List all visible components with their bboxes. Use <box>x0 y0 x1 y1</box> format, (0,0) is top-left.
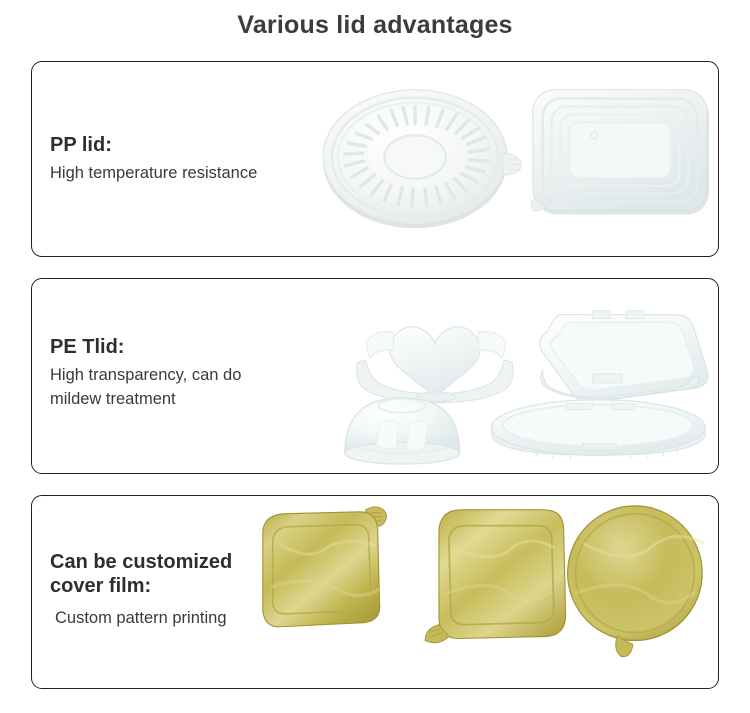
page-title: Various lid advantages <box>0 11 750 40</box>
card-pe-tlid-text: PE Tlid: High transparency, can do milde… <box>50 336 350 411</box>
card-pp-lid-subtext: High temperature resistance <box>50 162 350 186</box>
heart-shaped-lid-image <box>357 327 513 403</box>
card-pp-lid-heading: PP lid: <box>50 134 350 158</box>
card-cover-film-images <box>247 496 718 688</box>
square-lid-image <box>540 311 708 402</box>
round-ribbed-lid-image <box>323 90 522 229</box>
card-pe-tlid-images <box>332 279 718 473</box>
card-pp-lid: PP lid: High temperature resistance <box>31 61 719 257</box>
card-pp-lid-images <box>312 62 718 256</box>
card-pe-tlid-heading: PE Tlid: <box>50 336 350 360</box>
card-pe-tlid-subtext: High transparency, can do mildew treatme… <box>50 364 350 412</box>
rectangular-lid-image <box>531 90 709 215</box>
dome-lid-image <box>345 398 460 464</box>
card-pe-tlid: PE Tlid: High transparency, can do milde… <box>31 278 719 474</box>
infographic-page: Various lid advantages PP lid: High temp… <box>0 0 750 713</box>
card-cover-film: Can be customized cover film: Custom pat… <box>31 495 719 689</box>
card-pp-lid-text: PP lid: High temperature resistance <box>50 134 350 186</box>
oval-flat-lid-image <box>491 400 705 459</box>
gold-round-film-image <box>568 506 705 657</box>
gold-square-film-image <box>425 510 566 643</box>
gold-rectangular-film-image <box>263 507 387 627</box>
